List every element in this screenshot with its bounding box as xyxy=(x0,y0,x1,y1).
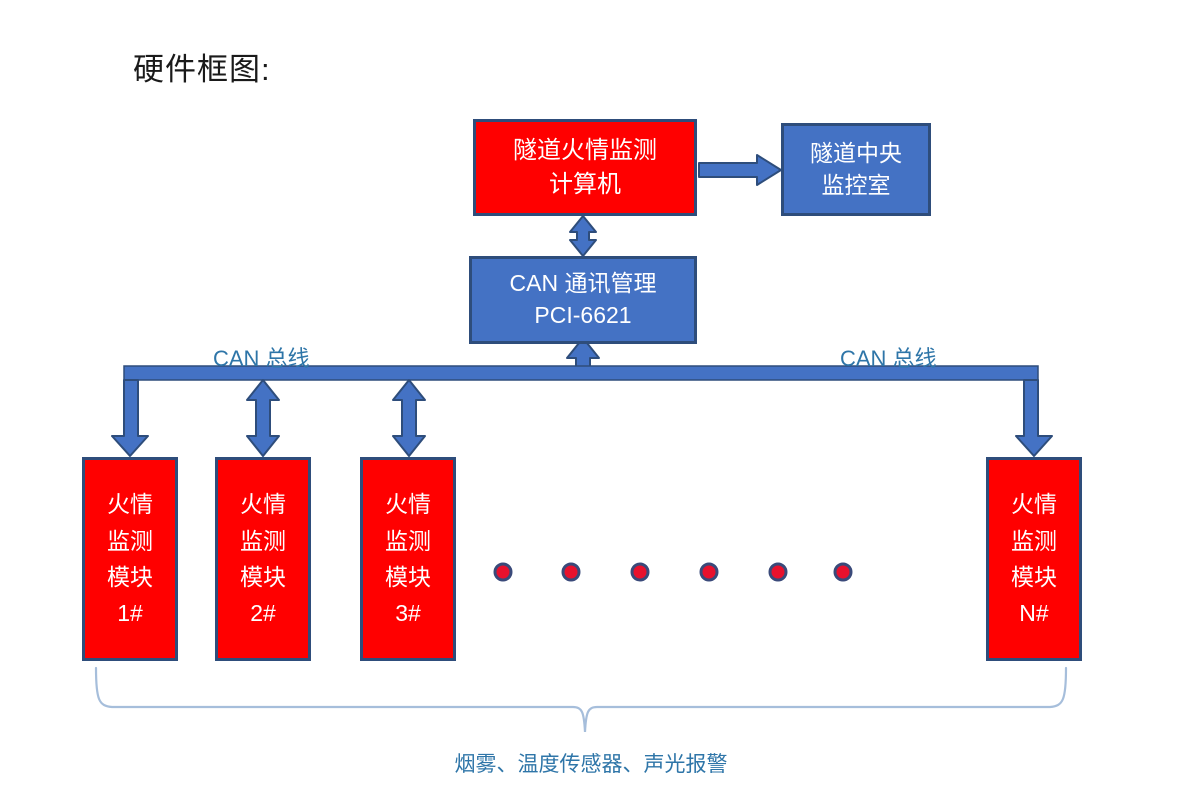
box-tunnel-central-control-room[interactable]: 隧道中央 监控室 xyxy=(781,123,931,216)
can-bus-line xyxy=(112,366,1052,456)
box-line-2: 计算机 xyxy=(549,168,621,201)
module-line-1: 火情 xyxy=(1011,486,1057,522)
sensor-brace-caption: 烟雾、温度传感器、声光报警 xyxy=(0,748,1182,778)
arrow-bus-to-module-3 xyxy=(393,380,425,456)
box-fire-monitor-module-3[interactable]: 火情 监测 模块 3# xyxy=(360,457,456,661)
box-can-communication-manager[interactable]: CAN 通讯管理 PCI-6621 xyxy=(469,256,697,344)
can-bus-label-right: CAN 总线 xyxy=(840,341,937,373)
box-line-1: 隧道火情监测 xyxy=(513,134,657,167)
box-fire-monitor-module-1[interactable]: 火情 监测 模块 1# xyxy=(82,457,178,661)
module-line-2: 监测 xyxy=(385,523,431,559)
module-line-3: 模块 xyxy=(240,559,286,595)
module-index: 1# xyxy=(117,595,143,631)
diagram-canvas: 硬件框图: xyxy=(0,0,1182,800)
box-tunnel-fire-monitor-computer[interactable]: 隧道火情监测 计算机 xyxy=(473,119,697,216)
box-fire-monitor-module-2[interactable]: 火情 监测 模块 2# xyxy=(215,457,311,661)
module-line-2: 监测 xyxy=(240,523,286,559)
module-line-2: 监测 xyxy=(1011,523,1057,559)
box-line-1: 隧道中央 xyxy=(810,138,902,170)
module-index: 3# xyxy=(395,595,421,631)
module-line-1: 火情 xyxy=(107,486,153,522)
arrow-bus-to-module-2 xyxy=(247,380,279,456)
module-line-1: 火情 xyxy=(240,486,286,522)
module-line-3: 模块 xyxy=(107,559,153,595)
module-index: 2# xyxy=(250,595,276,631)
ellipsis-dots xyxy=(495,564,851,580)
arrow-computer-to-room xyxy=(699,155,781,185)
box-line-2: PCI-6621 xyxy=(534,300,631,332)
module-index: N# xyxy=(1019,595,1048,631)
arrow-computer-to-can xyxy=(570,216,596,256)
box-fire-monitor-module-n[interactable]: 火情 监测 模块 N# xyxy=(986,457,1082,661)
sensor-brace xyxy=(96,668,1066,732)
module-line-3: 模块 xyxy=(1011,559,1057,595)
box-line-2: 监控室 xyxy=(822,170,891,202)
box-line-1: CAN 通讯管理 xyxy=(510,268,657,300)
page-title: 硬件框图: xyxy=(133,44,271,89)
module-line-3: 模块 xyxy=(385,559,431,595)
module-line-2: 监测 xyxy=(107,523,153,559)
can-bus-label-left: CAN 总线 xyxy=(213,341,310,373)
module-line-1: 火情 xyxy=(385,486,431,522)
